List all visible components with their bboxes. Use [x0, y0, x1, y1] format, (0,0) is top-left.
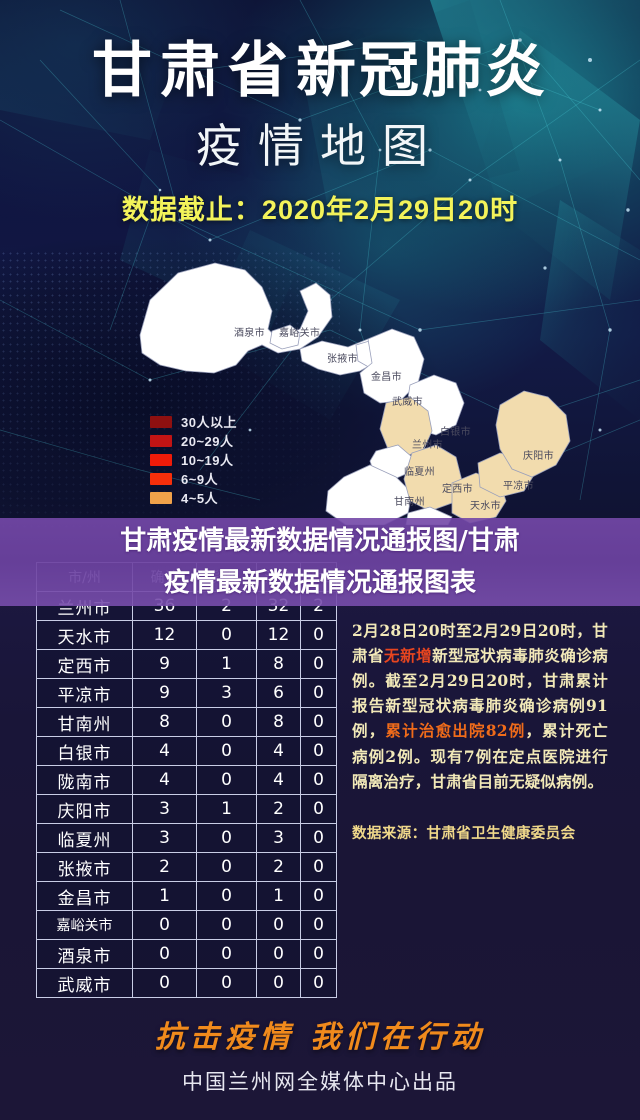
table-row[interactable]: 天水市120120	[37, 621, 337, 650]
table-cell-value: 3	[133, 795, 197, 824]
table-row[interactable]: 酒泉市0000	[37, 940, 337, 969]
table-cell-value: 0	[301, 795, 337, 824]
epidemic-data-table: 市/州确诊疑似治愈死亡 兰州市362322天水市120120定西市9180平凉市…	[36, 562, 337, 998]
table-cell-value: 0	[301, 969, 337, 998]
table-row[interactable]: 庆阳市3120	[37, 795, 337, 824]
legend-label: 6~9人	[181, 469, 218, 488]
table-cell-city: 天水市	[37, 621, 133, 650]
map-city-label: 平凉市	[503, 477, 534, 492]
table-cell-value: 3	[133, 824, 197, 853]
table-cell-value: 0	[197, 911, 257, 940]
table-cell-city: 陇南市	[37, 766, 133, 795]
data-cutoff-label: 数据截止：2020年2月29日20时	[0, 188, 640, 227]
table-body: 兰州市362322天水市120120定西市9180平凉市9360甘南州8080白…	[37, 592, 337, 998]
legend-label: 10~19人	[181, 450, 234, 469]
table-cell-city: 嘉峪关市	[37, 911, 133, 940]
legend-color-swatch	[150, 435, 172, 447]
table-cell-city: 白银市	[37, 737, 133, 766]
table-cell-value: 0	[197, 621, 257, 650]
page-subtitle: 疫情地图	[0, 110, 640, 176]
table-cell-value: 0	[301, 621, 337, 650]
table-row[interactable]: 甘南州8080	[37, 708, 337, 737]
legend-label: 20~29人	[181, 431, 234, 450]
map-legend: 30人以上20~29人10~19人6~9人4~5人	[150, 412, 237, 507]
table-cell-value: 0	[197, 737, 257, 766]
table-cell-value: 0	[133, 911, 197, 940]
legend-color-swatch	[150, 473, 172, 485]
table-cell-value: 0	[301, 911, 337, 940]
table-row[interactable]: 陇南市4040	[37, 766, 337, 795]
map-shapes	[0, 225, 640, 525]
table-cell-value: 0	[197, 824, 257, 853]
legend-item: 4~5人	[150, 488, 237, 507]
table-cell-city: 甘南州	[37, 708, 133, 737]
table-cell-value: 4	[257, 737, 301, 766]
table-cell-value: 0	[301, 650, 337, 679]
legend-item: 10~19人	[150, 450, 237, 469]
table-row[interactable]: 白银市4040	[37, 737, 337, 766]
overlay-caption-line-2: 疫情最新数据情况通报图表	[164, 562, 476, 604]
table-row[interactable]: 张掖市2020	[37, 853, 337, 882]
epidemic-data-table-wrapper[interactable]: 市/州确诊疑似治愈死亡 兰州市362322天水市120120定西市9180平凉市…	[36, 562, 336, 998]
map-city-label: 张掖市	[327, 350, 358, 365]
table-cell-value: 0	[257, 940, 301, 969]
map-city-label: 兰州市	[412, 436, 443, 451]
infographic-page: 甘肃省新冠肺炎 疫情地图 数据截止：2020年2月29日20时	[0, 0, 640, 1120]
legend-items: 30人以上20~29人10~19人6~9人4~5人	[150, 412, 237, 507]
table-cell-value: 0	[197, 969, 257, 998]
map-city-label: 白银市	[440, 423, 471, 438]
legend-label: 4~5人	[181, 488, 218, 507]
data-source-label: 数据来源：甘肃省卫生健康委员会	[352, 822, 612, 843]
map-city-label: 定西市	[442, 480, 473, 495]
table-cell-value: 8	[133, 708, 197, 737]
overlay-caption-line-1: 甘肃疫情最新数据情况通报图/甘肃	[120, 520, 520, 562]
table-cell-value: 1	[197, 795, 257, 824]
table-cell-value: 0	[197, 882, 257, 911]
map-city-label: 酒泉市	[234, 324, 265, 339]
table-cell-value: 1	[133, 882, 197, 911]
table-cell-city: 金昌市	[37, 882, 133, 911]
table-cell-value: 0	[257, 969, 301, 998]
table-cell-city: 平凉市	[37, 679, 133, 708]
legend-label: 30人以上	[181, 412, 237, 431]
legend-color-swatch	[150, 416, 172, 428]
legend-color-swatch	[150, 454, 172, 466]
table-cell-value: 0	[301, 940, 337, 969]
map-city-label: 临夏州	[404, 463, 435, 478]
map-city-label: 天水市	[470, 497, 501, 512]
summary-highlight-recovered: 累计治愈出院82例	[385, 721, 525, 740]
table-cell-value: 1	[197, 650, 257, 679]
table-cell-city: 酒泉市	[37, 940, 133, 969]
table-cell-city: 武威市	[37, 969, 133, 998]
table-cell-value: 0	[133, 940, 197, 969]
table-cell-city: 庆阳市	[37, 795, 133, 824]
epidemic-summary-text: 2月28日20时至2月29日20时，甘肃省无新增新型冠状病毒肺炎确诊病例。截至2…	[352, 618, 608, 794]
table-row[interactable]: 金昌市1010	[37, 882, 337, 911]
table-cell-value: 12	[257, 621, 301, 650]
overlay-caption-banner: 甘肃疫情最新数据情况通报图/甘肃 疫情最新数据情况通报图表	[0, 518, 640, 606]
table-cell-value: 0	[197, 940, 257, 969]
legend-item: 20~29人	[150, 431, 237, 450]
page-title-disease: 新冠肺炎	[296, 37, 548, 104]
table-cell-city: 张掖市	[37, 853, 133, 882]
table-cell-value: 0	[301, 882, 337, 911]
map-city-label: 甘南州	[394, 493, 425, 508]
table-cell-value: 0	[257, 911, 301, 940]
table-row[interactable]: 临夏州3030	[37, 824, 337, 853]
table-cell-value: 8	[257, 650, 301, 679]
table-row[interactable]: 嘉峪关市0000	[37, 911, 337, 940]
table-cell-value: 0	[301, 679, 337, 708]
table-cell-value: 9	[133, 650, 197, 679]
table-row[interactable]: 平凉市9360	[37, 679, 337, 708]
summary-highlight-no-new-cases: 无新增	[384, 646, 432, 665]
table-cell-value: 12	[133, 621, 197, 650]
table-cell-value: 6	[257, 679, 301, 708]
legend-color-swatch	[150, 492, 172, 504]
table-cell-value: 0	[133, 969, 197, 998]
table-cell-value: 0	[301, 737, 337, 766]
legend-item: 30人以上	[150, 412, 237, 431]
table-cell-value: 3	[197, 679, 257, 708]
map-city-label: 武威市	[392, 393, 423, 408]
footer-slogan: 抗击疫情 我们在行动	[0, 1012, 640, 1056]
gansu-province-map[interactable]: 酒泉市嘉峪关市张掖市金昌市武威市白银市兰州市临夏州甘南州定西市天水市平凉市庆阳市	[0, 225, 640, 525]
table-cell-city: 定西市	[37, 650, 133, 679]
table-cell-value: 0	[301, 853, 337, 882]
table-cell-value: 1	[257, 882, 301, 911]
table-cell-value: 2	[257, 853, 301, 882]
table-cell-value: 0	[301, 766, 337, 795]
table-cell-value: 2	[257, 795, 301, 824]
page-title: 甘肃省新冠肺炎	[0, 22, 640, 109]
table-row[interactable]: 定西市9180	[37, 650, 337, 679]
table-cell-value: 4	[133, 737, 197, 766]
table-cell-value: 0	[197, 853, 257, 882]
page-title-province: 甘肃省	[92, 36, 296, 106]
table-row[interactable]: 武威市0000	[37, 969, 337, 998]
table-cell-value: 2	[133, 853, 197, 882]
map-city-label: 嘉峪关市	[279, 324, 320, 339]
map-city-label: 庆阳市	[523, 447, 554, 462]
table-cell-value: 8	[257, 708, 301, 737]
table-cell-value: 0	[301, 824, 337, 853]
table-cell-value: 4	[257, 766, 301, 795]
table-cell-value: 0	[197, 766, 257, 795]
table-cell-city: 临夏州	[37, 824, 133, 853]
table-cell-value: 4	[133, 766, 197, 795]
table-cell-value: 0	[197, 708, 257, 737]
table-cell-value: 3	[257, 824, 301, 853]
table-cell-value: 9	[133, 679, 197, 708]
legend-item: 6~9人	[150, 469, 237, 488]
map-city-label: 金昌市	[371, 368, 402, 383]
table-cell-value: 0	[301, 708, 337, 737]
footer-credit: 中国兰州网全媒体中心出品	[0, 1066, 640, 1096]
